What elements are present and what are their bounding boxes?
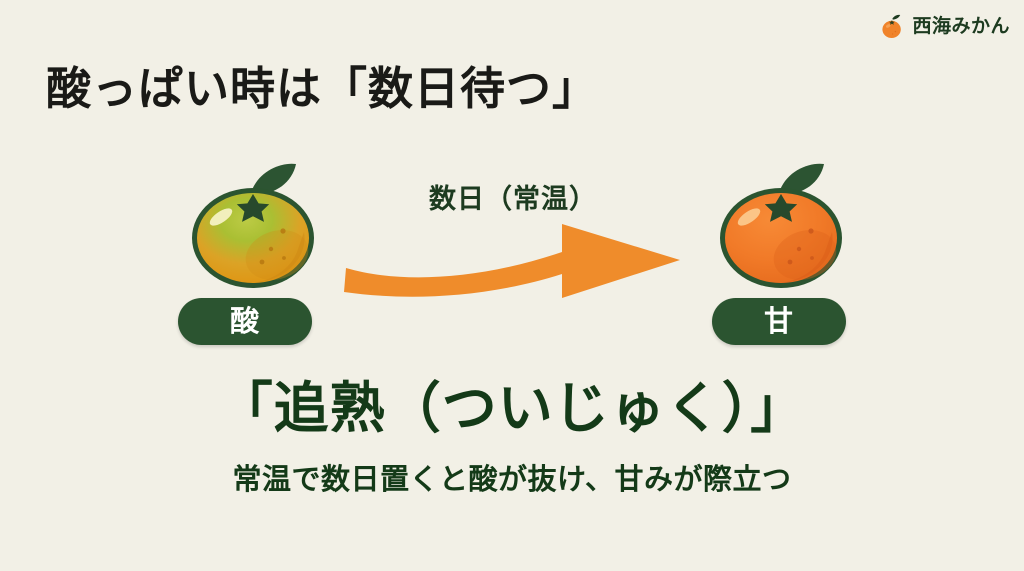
arrow-label: 数日（常温）: [330, 186, 696, 213]
caption-sub: 常温で数日置くと酸が抜け、甘みが際立つ: [0, 462, 1024, 497]
arrow-right-icon: [330, 214, 696, 298]
unripe-mandarin-icon: [180, 148, 330, 298]
mandarin-icon: [879, 12, 905, 40]
slide-root: 西海みかん 酸っぱい時は「数日待つ」: [0, 0, 1024, 571]
status-badge-sweet: 甘: [712, 298, 846, 345]
brand-name: 西海みかん: [912, 17, 1010, 36]
brand-logo: 西海みかん: [879, 10, 1010, 42]
ripening-arrow-group: 数日（常温）: [330, 186, 696, 298]
caption-main: 「追熟（ついじゅく）」: [0, 378, 1024, 440]
page-title: 酸っぱい時は「数日待つ」: [46, 63, 598, 115]
status-badge-sweet-label: 甘: [764, 307, 794, 336]
status-badge-sour-label: 酸: [230, 307, 260, 336]
status-badge-sour: 酸: [178, 298, 312, 345]
ripe-mandarin-icon: [708, 148, 858, 298]
